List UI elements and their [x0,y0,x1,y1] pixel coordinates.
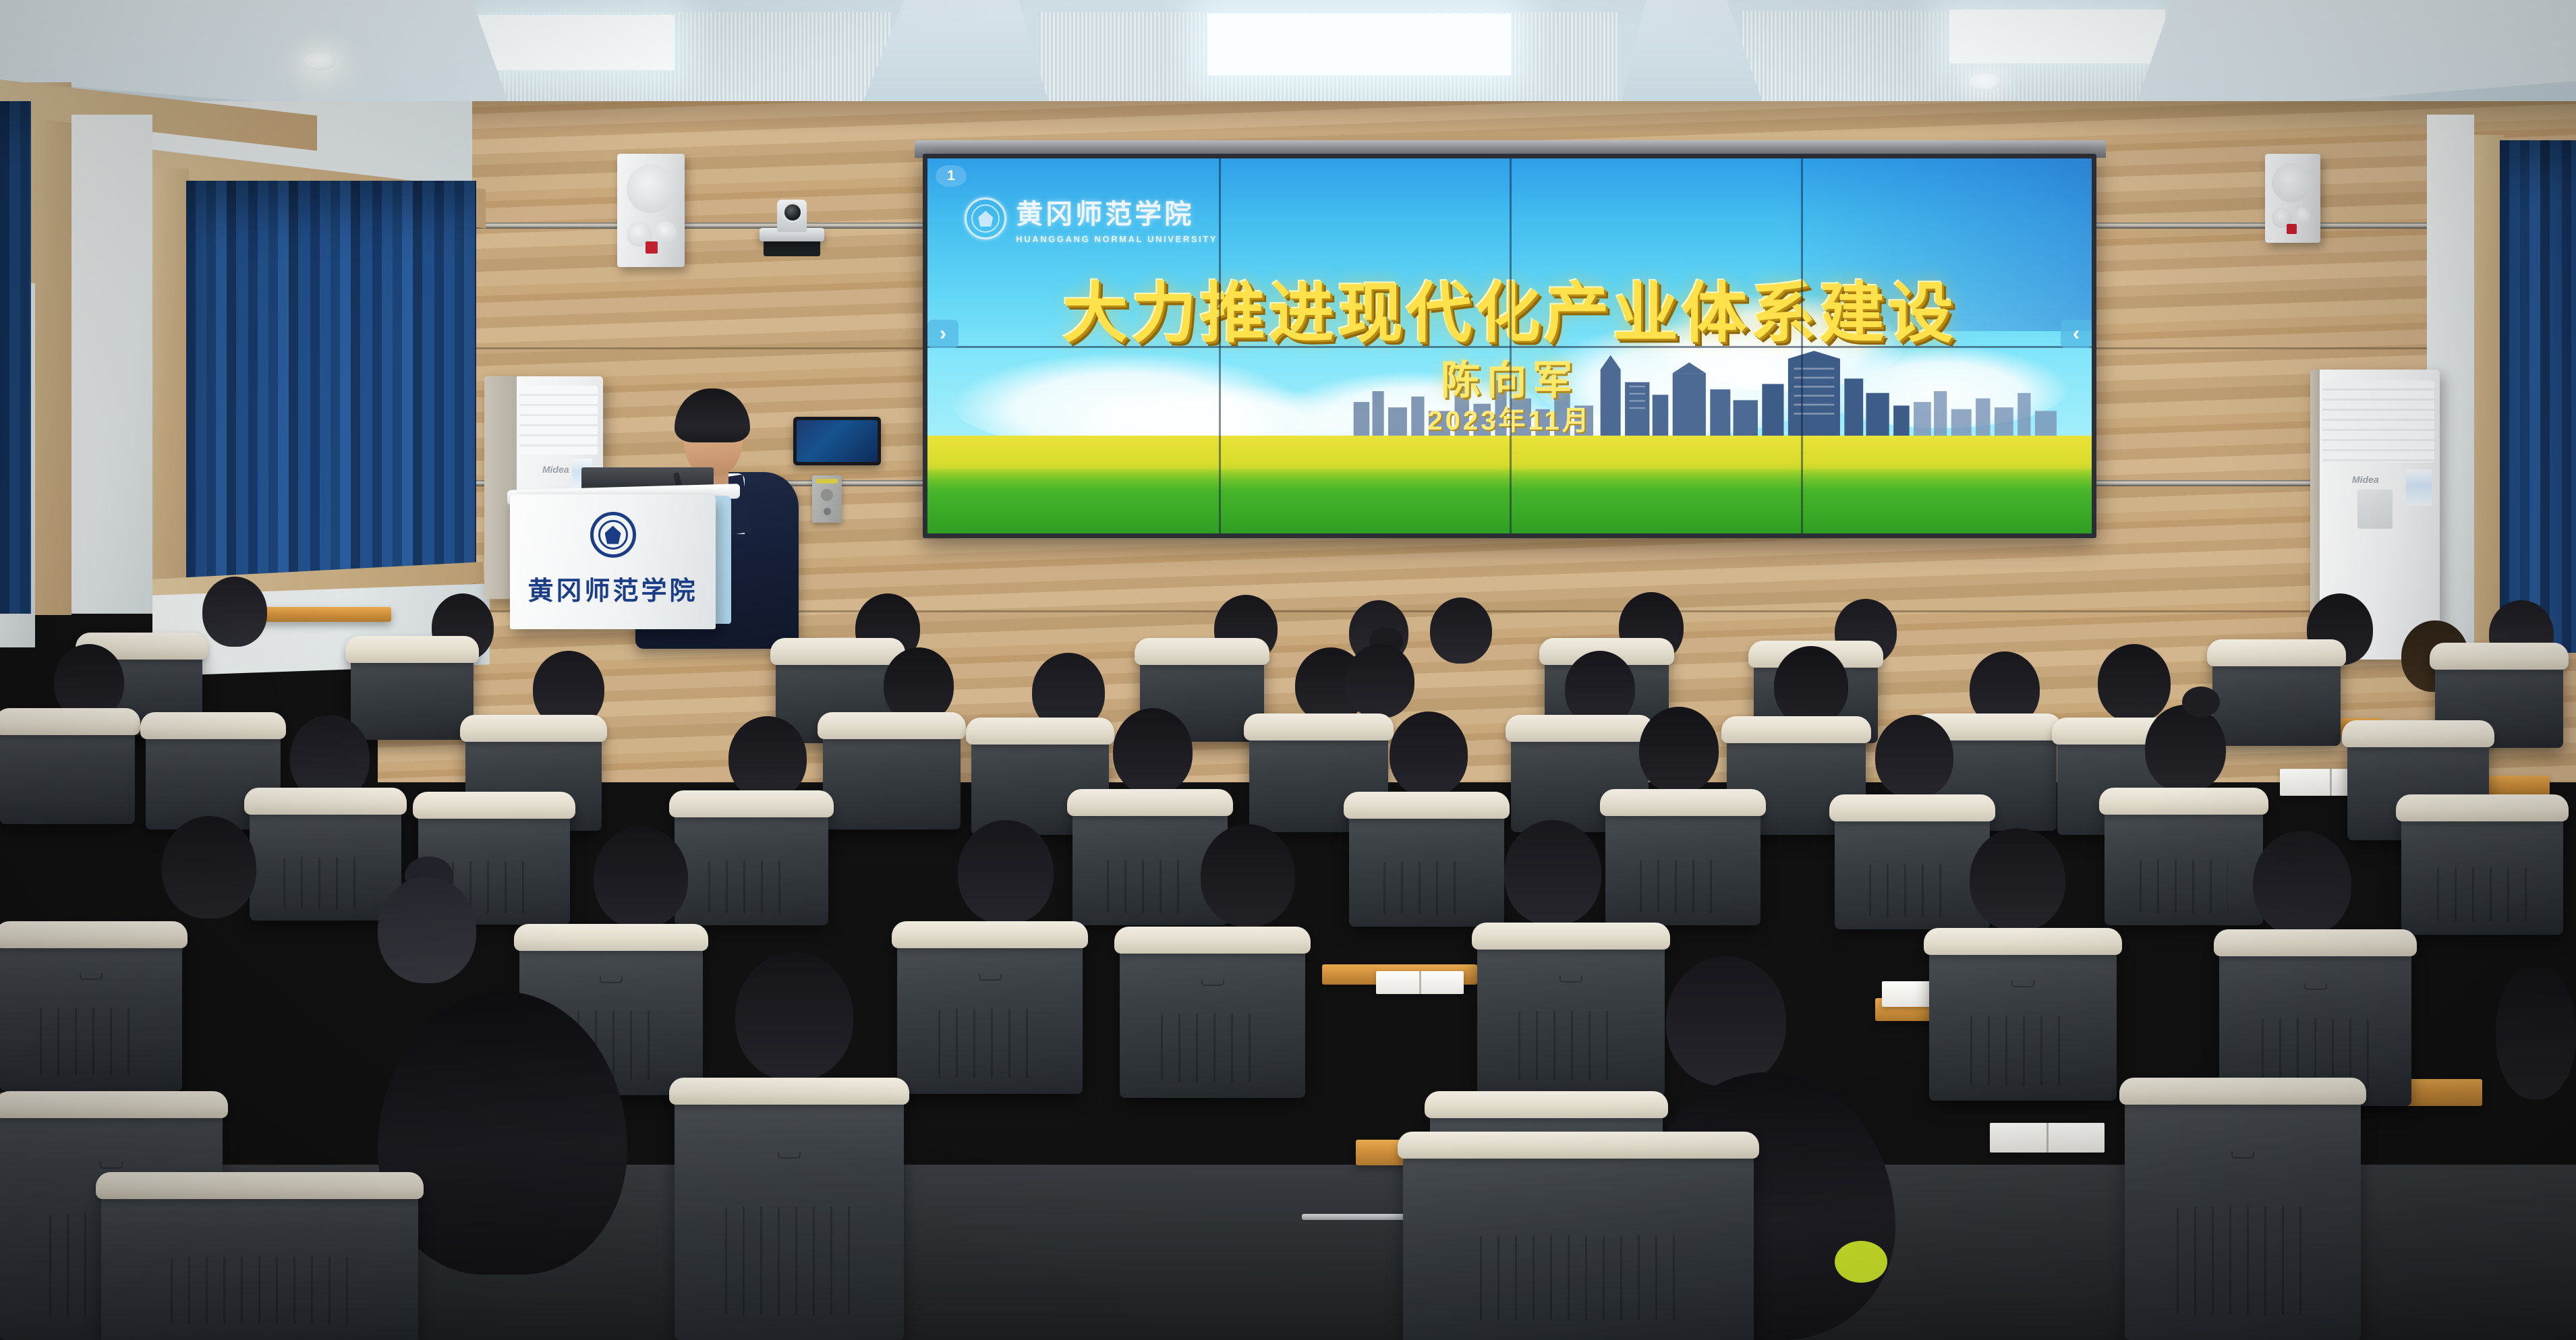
slide-prev-button[interactable]: ‹ [2061,320,2092,348]
curtain-left-outer [0,101,31,614]
seat-headrest [818,712,966,739]
speaker-tweeter-icon [2295,208,2311,224]
emergency-intercom[interactable] [812,475,842,523]
university-name-cn: 黄冈师范学院 [1016,192,1218,231]
audience-head [728,716,807,800]
seat-headrest [2207,639,2346,666]
seat-vent-detail [40,1008,142,1076]
audience-head [735,952,853,1080]
seat-vent-detail [1383,862,1470,914]
seat-headrest [1425,1091,1668,1118]
speaker-woofer-icon [627,165,675,213]
auditorium-seat [1349,807,1504,927]
auditorium-seat [675,1093,904,1340]
seat-headrest [1344,792,1510,819]
wall-speaker-left [617,154,685,267]
seat-notch-detail [1201,979,1224,986]
videowall-screen-content: 1 黄冈师范学院 HUANGGANG NORMAL UNIVERSITY 大力推… [927,158,2092,533]
slide-next-button[interactable]: › [927,320,958,348]
audience-head [162,816,256,919]
auditorium-seat [1929,943,2117,1101]
right-window-frame [2470,135,2504,661]
seat-vent-detail [725,1206,853,1316]
seat-headrest [2396,794,2569,821]
seat-vent-detail [1161,1014,1265,1082]
auditorium-seat [897,936,1083,1094]
audience-head [594,827,688,928]
seat-headrest [2119,1078,2366,1105]
seat-headrest [1600,789,1766,816]
seat-headrest [1135,638,1269,665]
speaker-tweeter-icon [655,221,677,243]
audience-head [1639,707,1719,793]
curtain-right [2500,140,2576,653]
seat-vent-detail [1970,1016,2076,1085]
av-touch-panel-screen[interactable] [797,420,878,462]
speaker-brand-badge [646,241,658,254]
audience-head [1504,820,1601,925]
curtain-left-inner [186,181,476,612]
audience-hair-tie [1835,1241,1887,1283]
auditorium-seat [0,723,135,824]
seat-headrest [345,636,479,663]
auditorium-seat [351,651,474,740]
speaker-brand-badge [2287,224,2297,234]
audience-head [2145,705,2226,792]
audience-head [378,877,476,983]
seat-notch-detail [1559,976,1582,983]
panel-light-right [1949,9,2165,63]
seat-notch-detail [2231,1152,2254,1159]
ceiling-downlight-1 [304,53,336,70]
seat-headrest [514,924,708,951]
audience-head [1201,824,1295,927]
seat-headrest [0,921,188,948]
audience-head [1774,646,1848,726]
seat-headrest [2099,788,2268,815]
seat-vent-detail [1869,865,1956,917]
seat-notch-detail [80,973,103,980]
seat-headrest [244,788,407,815]
audience-head [2496,964,2576,1099]
slide-number-badge: 1 [936,165,967,187]
university-name-en: HUANGGANG NORMAL UNIVERSITY [1016,234,1218,244]
speaker-woofer-icon [2272,163,2311,202]
podium-university-name: 黄冈师范学院 [510,570,716,607]
seat-headrest [1244,713,1394,740]
audience-head [1666,956,1786,1086]
panel-light-center [1207,13,1511,76]
seat-notch-detail [100,1162,123,1169]
seat-vent-detail [1107,860,1194,913]
seat-vent-detail [938,1009,1042,1078]
seat-notch-detail [2304,983,2327,990]
audience-head [1113,708,1193,794]
auditorium-seat-foreground [101,1187,418,1340]
seat-vent-detail [2437,867,2527,923]
seat-vent-detail [171,1257,348,1324]
intercom-call-button[interactable] [824,508,831,515]
ptz-camera-lens-icon [782,202,803,223]
seat-headrest [1067,789,1233,816]
seat-vent-detail [1518,1011,1624,1081]
seat-headrest [1721,716,1871,743]
seat-headrest [1114,927,1311,954]
ac-brand-label: Midea [542,464,569,475]
audience-head [1875,715,1953,798]
audience-head [1430,598,1492,664]
seat-vent-detail [708,861,795,913]
seat-headrest [1472,923,1670,950]
left-wall-return [71,115,152,614]
auditorium-seat-foreground [1403,1146,1754,1340]
seat-headrest [413,792,575,819]
seat-headrest [0,1091,228,1118]
seat-notch-detail [979,974,1002,981]
auditorium-seat [2212,654,2341,746]
videowall-bezel-seam [927,346,2092,348]
open-book [1376,971,1464,994]
seat-headrest [96,1172,424,1199]
auditorium-seat [2401,809,2563,935]
auditorium-seat [1477,937,1665,1097]
audience-head [1390,711,1468,796]
ceiling-downlight-9 [1970,73,2002,90]
seat-headrest [966,718,1114,745]
av-touch-panel[interactable] [793,417,881,465]
videowall-display[interactable]: 1 黄冈师范学院 HUANGGANG NORMAL UNIVERSITY 大力推… [923,154,2096,538]
seat-headrest [1829,794,1995,821]
seat-headrest [770,638,905,665]
left-window-frame-inner [152,169,189,627]
seat-headrest [669,1078,909,1105]
seat-headrest [2342,720,2494,747]
auditorium-seat [2105,803,2263,925]
seat-headrest [2214,929,2417,956]
auditorium-seat [2125,1093,2361,1340]
ac-energy-label [2406,469,2432,506]
audience-head [2098,644,2171,722]
audience-head [202,577,267,647]
seat-headrest [1506,715,1654,742]
seat-vent-detail [1480,1235,1676,1320]
book-spine [1419,971,1421,994]
seat-notch-detail [778,1152,801,1159]
seat-vent-detail [2177,1206,2309,1316]
audience-head [1346,644,1414,718]
audience-head [1970,828,2065,931]
seat-headrest [892,921,1088,948]
book-spine [2047,1123,2049,1153]
auditorium-seat [675,805,828,925]
auditorium-seat [1120,941,1305,1098]
wall-speaker-right [2265,154,2320,243]
university-logo: 黄冈师范学院 HUANGGANG NORMAL UNIVERSITY [965,192,1218,244]
intercom-speaker-icon [821,489,833,501]
auditorium-seat [250,803,401,921]
auditorium-seat [1605,804,1761,925]
lecture-hall-scene: 1 黄冈师范学院 HUANGGANG NORMAL UNIVERSITY 大力推… [0,0,2576,1340]
seat-vent-detail [1640,860,1727,913]
seat-notch-detail [600,977,623,983]
podium: 黄冈师范学院 [510,494,716,629]
ac-air-outlet-grille [2322,380,2434,463]
intercom-label-strip [816,479,838,484]
auditorium-seat [1835,809,1990,929]
seat-headrest [460,715,607,742]
audience-head [2253,831,2351,936]
seat-headrest [140,712,286,739]
auditorium-seat [0,936,182,1091]
seat-vent-detail [2140,859,2229,913]
seat-headrest [669,790,834,817]
seat-vent-detail [283,857,368,909]
audience-hair-bun [2182,687,2220,718]
seat-headrest [2430,643,2569,670]
university-seal-icon [965,198,1006,239]
ac-air-outlet-grille [519,386,598,455]
ac-brand-label: Midea [2352,474,2379,485]
audience-head [958,820,1054,924]
seat-headrest [0,708,140,735]
auditorium-seat [823,727,961,829]
seat-headrest [1398,1132,1759,1159]
book-spine [2330,769,2332,796]
panel-light-left [472,15,675,70]
seat-notch-detail [2011,981,2034,987]
open-book [1990,1123,2105,1153]
ac-display-panel [2357,490,2393,529]
seat-headrest [1924,928,2122,955]
podium-university-seal-icon [590,512,636,558]
